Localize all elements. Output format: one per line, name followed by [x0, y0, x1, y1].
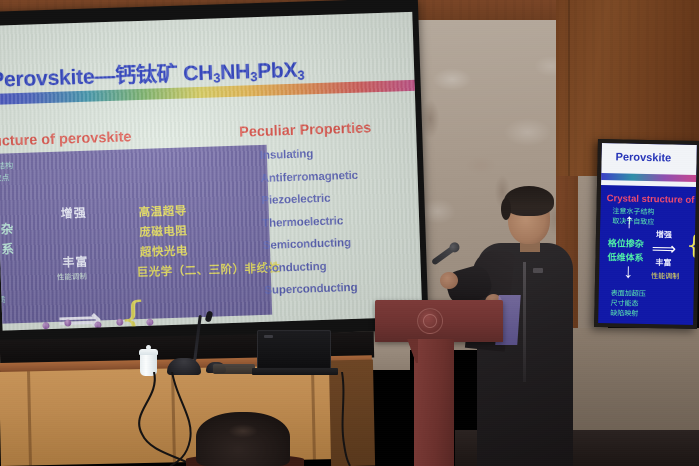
diagram-left-label-1: 掺杂	[0, 221, 14, 238]
cable-right	[320, 372, 360, 466]
diagram-bottom-note-2: 调	[0, 308, 2, 318]
slide-title-sub-2: 3	[250, 69, 258, 84]
side-monitor-arrow-up-icon: ↑	[624, 212, 634, 232]
slide-title-end: PbX	[257, 59, 298, 83]
side-monitor-label-1: 格位掺杂	[608, 239, 644, 251]
peculiar-properties-list: Insulating Antiferromagnetic Piezoelectr…	[260, 145, 415, 307]
audience-hair-highlight	[228, 424, 258, 438]
laptop-lid	[257, 330, 331, 370]
side-monitor-arrow-bottom-label: 丰富	[655, 258, 671, 268]
property-item-4: Semiconducting	[263, 235, 413, 252]
property-item-2: Piezoelectric	[261, 190, 411, 207]
side-monitor-title: Perovskite	[615, 151, 671, 164]
property-item-5: Conducting	[263, 257, 413, 274]
laptop-logo-icon	[264, 335, 273, 338]
projection-screen-surface: Perovskite—钙钛矿 CH3NH3PbX3 al structure o…	[0, 12, 422, 331]
slide-heading-left: al structure of perovskite	[0, 129, 132, 151]
side-monitor-note-bottom-2: 尺寸能态	[610, 299, 638, 308]
speaker-jacket-badge	[533, 268, 543, 273]
projection-screen-frame: Perovskite—钙钛矿 CH3NH3PbX3 al structure o…	[0, 0, 429, 344]
diagram-top-note-1: 子结构	[0, 161, 13, 172]
diagram-outcome-3: 巨光学（二、三阶）非线性	[136, 260, 280, 279]
side-monitor-screen: Perovskite Crystal structure of 注意水子结构 取…	[598, 143, 697, 325]
slide-title-sub-3: 3	[297, 67, 305, 82]
side-monitor-arrow-sub-label: 性能调制	[651, 272, 679, 281]
diagram-outcome-0: 高温超导	[138, 203, 186, 219]
property-item-1: Antiferromagnetic	[260, 168, 410, 185]
diagram-arrow-bottom-label: 丰富	[62, 255, 88, 271]
speaker-jacket-zipper	[523, 262, 526, 382]
podium-column	[414, 339, 454, 466]
diagram-bottom-note-1: 性质	[0, 296, 6, 307]
side-monitor-heading: Crystal structure of	[607, 193, 695, 206]
side-monitor-brace-glyph: {	[685, 233, 696, 259]
diagram-left-label-2: 体系	[0, 241, 15, 258]
slide-title-sub-1: 3	[213, 70, 221, 85]
diagram-outcome-2: 超快光电	[140, 243, 188, 259]
side-monitor-outcome-0: 高	[696, 231, 697, 241]
wall-lower-right	[556, 328, 699, 438]
side-monitor-note-bottom-3: 缺陷映射	[610, 309, 638, 318]
podium-top	[375, 300, 503, 342]
diagram-arrow-sub-label: 性能调制	[57, 272, 87, 282]
side-monitor-outcome-1: 庞	[696, 245, 697, 255]
side-monitor-note-bottom-1: 表面加超压	[611, 289, 646, 298]
teacup-knob	[146, 345, 151, 350]
slide-heading-right: Peculiar Properties	[239, 120, 372, 140]
podium-emblem-icon	[417, 308, 443, 334]
side-display-monitor: Perovskite Crystal structure of 注意水子结构 取…	[594, 139, 699, 329]
diagram-top-note-2: 敏点	[0, 173, 10, 184]
speaker-hair	[504, 186, 554, 216]
audience-head	[196, 412, 290, 466]
lecture-hall-scene: Perovskite—钙钛矿 CH3NH3PbX3 al structure o…	[0, 0, 699, 466]
side-monitor-arrow-right-icon: ⟹	[652, 240, 677, 258]
speaker-hand-left	[440, 272, 458, 289]
property-item-6: Superconducting	[264, 280, 414, 297]
diagram-outcome-1: 庞磁电阻	[139, 223, 187, 239]
side-monitor-outcome-2: 超	[695, 259, 697, 269]
structure-diagram-panel: 子结构 敏点 掺杂 体系 增强 ⟹ 丰富 性能调制 { 高温超导 庞磁电阻 超快…	[0, 145, 272, 325]
diagram-arrow-top-label: 增强	[60, 206, 86, 222]
slide-title-mid: NH	[220, 60, 251, 84]
property-item-3: Thermoelectric	[262, 212, 412, 229]
side-monitor-arrow-down-icon: ↓	[623, 262, 633, 282]
property-item-0: Insulating	[260, 145, 410, 162]
